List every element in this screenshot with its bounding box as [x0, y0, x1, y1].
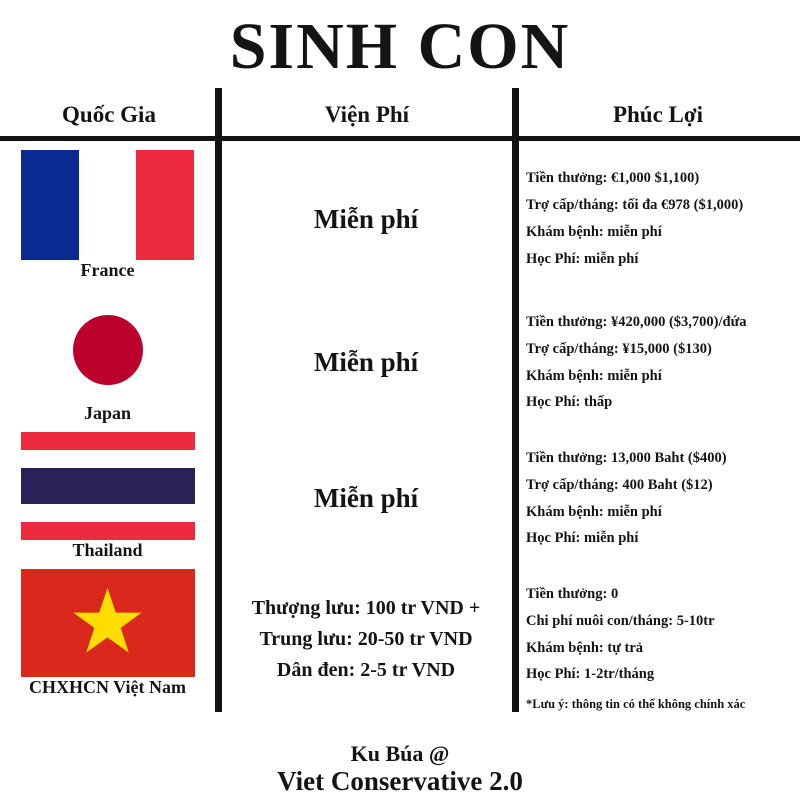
- table-row: Japan Miễn phí Tiền thưởng: ¥420,000 ($3…: [0, 295, 800, 430]
- flag-stripe-red-top: [21, 432, 195, 450]
- country-label: CHXHCN Việt Nam: [29, 677, 186, 698]
- flag-france-icon: [21, 150, 195, 260]
- benefit-line: Trợ cấp/tháng: ¥15,000 ($130): [526, 336, 800, 363]
- country-cell-thailand: Thailand: [0, 430, 215, 567]
- fee-value: Miễn phí: [314, 204, 418, 235]
- flag-stripe-blue: [21, 468, 195, 504]
- fee-value: Miễn phí: [314, 347, 418, 378]
- flag-stripe-white-bottom: [21, 504, 195, 522]
- fee-cell-japan: Miễn phí: [219, 295, 513, 430]
- benefit-line: Tiền thưởng: 13,000 Baht ($400): [526, 445, 800, 472]
- benefit-line: Học Phí: miễn phí: [526, 246, 800, 273]
- benefit-cell-vietnam: Tiền thưởng: 0 Chi phí nuôi con/tháng: 5…: [526, 567, 800, 712]
- flag-thailand-icon: [21, 432, 195, 540]
- country-cell-japan: Japan: [0, 295, 215, 430]
- table-row: Thailand Miễn phí Tiền thưởng: 13,000 Ba…: [0, 430, 800, 567]
- fee-line: Thượng lưu: 100 tr VND +: [252, 593, 481, 624]
- fee-line: Dân đen: 2-5 tr VND: [277, 655, 455, 686]
- benefit-line: Học Phí: 1-2tr/tháng: [526, 661, 800, 688]
- benefit-line: Học Phí: miễn phí: [526, 525, 800, 552]
- benefit-cell-thailand: Tiền thưởng: 13,000 Baht ($400) Trợ cấp/…: [526, 430, 800, 567]
- flag-stripe-white-top: [21, 450, 195, 468]
- footnote: *Lưu ý: thông tin có thể không chính xác: [526, 697, 800, 712]
- flag-japan-icon: [21, 297, 195, 403]
- country-label: Japan: [84, 403, 131, 424]
- benefit-line: Khám bệnh: miễn phí: [526, 499, 800, 526]
- benefit-line: Trợ cấp/tháng: tối đa €978 ($1,000): [526, 192, 800, 219]
- benefit-line: Khám bệnh: miễn phí: [526, 363, 800, 390]
- fee-cell-thailand: Miễn phí: [219, 430, 513, 567]
- column-header-benefit: Phúc Lợi: [516, 102, 800, 128]
- flag-band-blue: [21, 150, 79, 260]
- country-label: France: [81, 260, 135, 281]
- footer-author: Ku Búa @: [0, 741, 800, 767]
- flag-band-white: [79, 150, 137, 260]
- benefit-line: Khám bệnh: tự trả: [526, 635, 800, 662]
- benefit-cell-france: Tiền thưởng: €1,000 $1,100) Trợ cấp/thán…: [526, 143, 800, 295]
- table-row: CHXHCN Việt Nam Thượng lưu: 100 tr VND +…: [0, 567, 800, 712]
- benefit-line: Trợ cấp/tháng: 400 Baht ($12): [526, 472, 800, 499]
- column-header-country: Quốc Gia: [0, 102, 218, 128]
- column-header-fee: Viện Phí: [220, 102, 514, 128]
- benefit-line: Tiền thưởng: ¥420,000 ($3,700)/đứa: [526, 309, 800, 336]
- benefit-line: Khám bệnh: miễn phí: [526, 219, 800, 246]
- table-row: France Miễn phí Tiền thưởng: €1,000 $1,1…: [0, 143, 800, 295]
- fee-value: Miễn phí: [314, 483, 418, 514]
- fee-cell-vietnam: Thượng lưu: 100 tr VND + Trung lưu: 20-5…: [219, 567, 513, 712]
- flag-sun-disc: [73, 315, 143, 385]
- country-cell-france: France: [0, 143, 215, 295]
- flag-stripe-red-bottom: [21, 522, 195, 540]
- infographic-root: SINH CON Quốc Gia Viện Phí Phúc Lợi Fran…: [0, 0, 800, 800]
- fee-cell-france: Miễn phí: [219, 143, 513, 295]
- flag-star: [73, 588, 143, 658]
- benefit-line: Học Phí: thấp: [526, 389, 800, 416]
- flag-band-red: [136, 150, 194, 260]
- country-label: Thailand: [72, 540, 142, 561]
- fee-line: Trung lưu: 20-50 tr VND: [259, 624, 472, 655]
- country-cell-vietnam: CHXHCN Việt Nam: [0, 567, 215, 712]
- footer-brand: Viet Conservative 2.0: [0, 766, 800, 797]
- benefit-line: Tiền thưởng: €1,000 $1,100): [526, 165, 800, 192]
- benefit-line: Tiền thưởng: 0: [526, 581, 800, 608]
- page-title: SINH CON: [0, 14, 800, 80]
- benefit-line: Chi phí nuôi con/tháng: 5-10tr: [526, 608, 800, 635]
- flag-vietnam-icon: [21, 569, 195, 677]
- header-divider: [0, 136, 800, 141]
- benefit-cell-japan: Tiền thưởng: ¥420,000 ($3,700)/đứa Trợ c…: [526, 295, 800, 430]
